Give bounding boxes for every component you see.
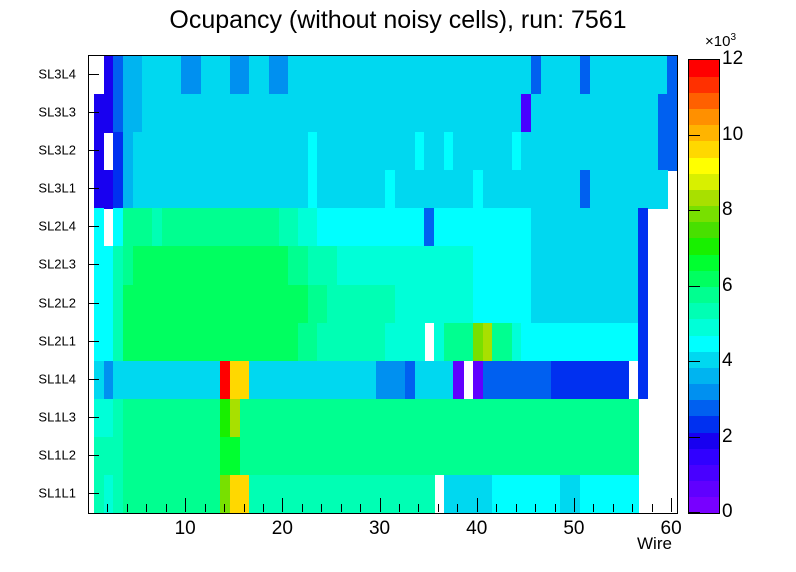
heatmap-cell — [288, 208, 298, 247]
heatmap-cell — [162, 246, 172, 285]
heatmap-cell — [220, 475, 230, 513]
heatmap-cell — [162, 399, 172, 438]
heatmap-cell — [599, 132, 609, 171]
heatmap-cell — [259, 475, 269, 513]
heatmap-cell — [376, 56, 386, 95]
heatmap-cell — [337, 323, 347, 362]
heatmap-cell — [590, 170, 600, 209]
heatmap-cell — [434, 361, 444, 400]
colorbar-tick — [688, 59, 700, 60]
heatmap-cell — [473, 246, 483, 285]
heatmap-cell — [269, 437, 279, 476]
heatmap-cell — [201, 437, 211, 476]
heatmap-cell — [240, 323, 250, 362]
heatmap-cell — [210, 437, 220, 476]
colorbar-tick — [688, 210, 700, 211]
heatmap-cell — [570, 285, 580, 324]
heatmap-cell — [405, 94, 415, 133]
heatmap-cell — [366, 361, 376, 400]
x-axis-minor-tick — [438, 504, 439, 512]
heatmap-cell — [502, 399, 512, 438]
heatmap-cell — [210, 399, 220, 438]
heatmap-cell — [327, 94, 337, 133]
heatmap-cell — [94, 323, 104, 362]
heatmap-cell — [240, 132, 250, 171]
heatmap-cell — [288, 361, 298, 400]
heatmap-cell — [366, 399, 376, 438]
heatmap-cell — [453, 475, 463, 513]
heatmap-cell — [181, 56, 191, 95]
heatmap-cell — [337, 285, 347, 324]
heatmap-cell — [551, 94, 561, 133]
heatmap-cell — [201, 475, 211, 513]
colorbar-segment — [689, 270, 719, 287]
heatmap-cell — [599, 437, 609, 476]
colorbar-tick — [688, 512, 700, 513]
heatmap-cell — [415, 56, 425, 95]
y-axis-tick-label: SL2L3 — [38, 257, 76, 272]
heatmap-cell — [385, 208, 395, 247]
heatmap-cell — [104, 94, 114, 133]
heatmap-cell — [133, 56, 143, 95]
heatmap-cell — [502, 285, 512, 324]
heatmap-cell — [434, 285, 444, 324]
heatmap-cell — [551, 475, 561, 513]
heatmap-cell — [279, 399, 289, 438]
heatmap-cell — [327, 399, 337, 438]
heatmap-cell — [152, 56, 162, 95]
y-axis-tick-label: SL1L4 — [38, 371, 76, 386]
x-axis-minor-tick — [166, 504, 167, 512]
heatmap-cell — [347, 94, 357, 133]
heatmap-cell — [220, 94, 230, 133]
y-axis-tick-label: SL2L2 — [38, 295, 76, 310]
heatmap-cell — [502, 323, 512, 362]
heatmap-cell — [133, 170, 143, 209]
heatmap-cell — [240, 437, 250, 476]
heatmap-cell — [181, 399, 191, 438]
heatmap-cell — [162, 361, 172, 400]
heatmap-cell — [259, 399, 269, 438]
heatmap-cell — [619, 475, 629, 513]
heatmap-cell — [434, 246, 444, 285]
heatmap-cell — [512, 56, 522, 95]
heatmap-cell — [385, 323, 395, 362]
heatmap-cell — [628, 208, 638, 247]
heatmap-cell — [580, 246, 590, 285]
heatmap-cell — [230, 208, 240, 247]
heatmap-cell — [113, 437, 123, 476]
heatmap-cell — [279, 56, 289, 95]
x-axis-minor-tick — [127, 504, 128, 512]
y-axis-tick — [88, 303, 99, 304]
heatmap-cell — [463, 437, 473, 476]
heatmap-cell — [337, 56, 347, 95]
heatmap-cell — [308, 475, 318, 513]
heatmap-cell — [376, 246, 386, 285]
heatmap-cell — [395, 361, 405, 400]
heatmap-cell — [424, 246, 434, 285]
heatmap-cell — [356, 475, 366, 513]
heatmap-cell — [609, 323, 619, 362]
heatmap-cell — [463, 246, 473, 285]
heatmap-cell — [259, 285, 269, 324]
heatmap-cell — [113, 475, 123, 513]
x-axis-minor-tick — [399, 504, 400, 512]
y-axis-tick — [88, 379, 99, 380]
heatmap-cell — [415, 323, 425, 362]
heatmap-cell — [240, 285, 250, 324]
heatmap-cell — [94, 361, 104, 400]
colorbar-segment — [689, 141, 719, 158]
heatmap-cell — [123, 361, 133, 400]
heatmap-cell — [191, 246, 201, 285]
heatmap-cell — [298, 132, 308, 171]
heatmap-cell — [113, 323, 123, 362]
heatmap-cell — [191, 361, 201, 400]
y-axis-tick-label: SL2L1 — [38, 333, 76, 348]
heatmap-cell — [453, 437, 463, 476]
x-axis-major-tick — [282, 498, 283, 512]
heatmap-cell — [327, 437, 337, 476]
heatmap-cell — [424, 132, 434, 171]
heatmap-cell — [492, 437, 502, 476]
heatmap-cell — [376, 285, 386, 324]
heatmap-cell — [259, 361, 269, 400]
colorbar-segment — [689, 497, 719, 514]
heatmap-cell — [415, 94, 425, 133]
heatmap-cell — [483, 323, 493, 362]
heatmap-cell — [337, 132, 347, 171]
heatmap-cell — [405, 285, 415, 324]
x-axis-title: Wire — [637, 534, 672, 554]
heatmap-cell — [162, 208, 172, 247]
heatmap-cell — [279, 285, 289, 324]
heatmap-cell — [531, 132, 541, 171]
heatmap-cell — [415, 285, 425, 324]
heatmap-cell — [317, 56, 327, 95]
heatmap-cell — [327, 132, 337, 171]
heatmap-cell — [366, 208, 376, 247]
heatmap-cell — [502, 475, 512, 513]
heatmap-cell — [521, 399, 531, 438]
heatmap-cell — [104, 285, 114, 324]
heatmap-cell — [512, 94, 522, 133]
heatmap-cell — [580, 132, 590, 171]
heatmap-cell — [531, 437, 541, 476]
heatmap-cell — [619, 323, 629, 362]
heatmap-cell — [444, 208, 454, 247]
heatmap-cell — [580, 94, 590, 133]
heatmap-cell — [521, 437, 531, 476]
heatmap-cell — [609, 94, 619, 133]
heatmap-cell — [492, 323, 502, 362]
heatmap-cell — [230, 94, 240, 133]
heatmap-cell — [279, 361, 289, 400]
heatmap-cell — [259, 437, 269, 476]
y-axis-tick-label: SL1L3 — [38, 409, 76, 424]
heatmap-cell — [590, 208, 600, 247]
heatmap-cell — [376, 132, 386, 171]
x-axis-minor-tick — [613, 504, 614, 512]
heatmap-cell — [308, 94, 318, 133]
heatmap-cell — [269, 285, 279, 324]
heatmap-cell — [531, 399, 541, 438]
heatmap-cell — [249, 246, 259, 285]
colorbar-tick — [688, 437, 700, 438]
heatmap-cell — [181, 475, 191, 513]
heatmap-cell — [308, 56, 318, 95]
heatmap-cell — [638, 56, 648, 95]
heatmap-cell — [531, 361, 541, 400]
heatmap-cell — [240, 399, 250, 438]
heatmap-cell — [327, 323, 337, 362]
colorbar-segment — [689, 60, 719, 77]
heatmap-cell — [104, 170, 114, 209]
heatmap-cell — [288, 323, 298, 362]
heatmap-cell — [249, 285, 259, 324]
heatmap-cell — [279, 475, 289, 513]
heatmap-cell — [279, 170, 289, 209]
heatmap-cell — [142, 399, 152, 438]
heatmap-cell — [551, 246, 561, 285]
heatmap-cell — [415, 208, 425, 247]
heatmap-cell — [123, 94, 133, 133]
heatmap-cell — [356, 56, 366, 95]
heatmap-cell — [424, 56, 434, 95]
heatmap-cell — [560, 475, 570, 513]
colorbar-segment — [689, 432, 719, 449]
heatmap-cell — [366, 170, 376, 209]
heatmap-cell — [609, 170, 619, 209]
x-axis-minor-tick — [263, 504, 264, 512]
colorbar-tick-label: 2 — [722, 426, 733, 448]
heatmap-cell — [113, 399, 123, 438]
heatmap-cell — [191, 399, 201, 438]
heatmap-cell — [133, 94, 143, 133]
heatmap-cell — [667, 56, 677, 95]
heatmap-cell — [220, 399, 230, 438]
heatmap-cell — [201, 285, 211, 324]
heatmap-cell — [356, 208, 366, 247]
heatmap-cell — [133, 208, 143, 247]
heatmap-cell — [599, 56, 609, 95]
heatmap-cell — [560, 437, 570, 476]
heatmap-cell — [463, 399, 473, 438]
y-axis-tick — [88, 150, 99, 151]
y-axis-tick-label: SL3L2 — [38, 143, 76, 158]
heatmap-cell — [259, 323, 269, 362]
heatmap-cell — [172, 170, 182, 209]
heatmap-cell — [551, 132, 561, 171]
heatmap-cell — [366, 132, 376, 171]
heatmap-cell — [444, 323, 454, 362]
heatmap-cell — [210, 246, 220, 285]
heatmap-cell — [269, 132, 279, 171]
heatmap-cell — [172, 246, 182, 285]
heatmap-cell — [230, 437, 240, 476]
heatmap-cell — [249, 475, 259, 513]
heatmap-cell — [570, 132, 580, 171]
heatmap-cell — [288, 475, 298, 513]
heatmap-cell — [347, 208, 357, 247]
heatmap-cell — [570, 399, 580, 438]
heatmap-cell — [628, 56, 638, 95]
heatmap-cell — [424, 399, 434, 438]
heatmap-cell — [104, 56, 114, 95]
heatmap-cell — [269, 94, 279, 133]
heatmap-cell — [560, 208, 570, 247]
heatmap-cell — [152, 208, 162, 247]
heatmap-cell — [279, 208, 289, 247]
heatmap-cell — [230, 475, 240, 513]
heatmap-cell — [172, 361, 182, 400]
y-axis-tick-label: SL2L4 — [38, 219, 76, 234]
heatmap-cell — [531, 475, 541, 513]
heatmap-cell — [434, 94, 444, 133]
heatmap-cell — [366, 475, 376, 513]
colorbar-tick-label: 12 — [722, 48, 743, 70]
heatmap-cell — [191, 437, 201, 476]
x-axis-minor-tick — [341, 504, 342, 512]
heatmap-cell — [337, 361, 347, 400]
heatmap-cell — [405, 246, 415, 285]
heatmap-cell — [570, 94, 580, 133]
heatmap-cell — [628, 475, 638, 513]
heatmap-cell — [317, 475, 327, 513]
heatmap-cell — [658, 132, 668, 171]
heatmap-cell — [473, 475, 483, 513]
heatmap-cell — [415, 246, 425, 285]
heatmap-cell — [405, 323, 415, 362]
colorbar-segment — [689, 189, 719, 206]
x-axis-major-tick — [185, 498, 186, 512]
heatmap-cell — [502, 132, 512, 171]
heatmap-cell — [434, 132, 444, 171]
heatmap-cell — [385, 399, 395, 438]
heatmap-cell — [444, 437, 454, 476]
y-axis-tick — [88, 417, 99, 418]
x-axis-minor-tick — [244, 504, 245, 512]
heatmap-cell — [172, 208, 182, 247]
heatmap-cell — [288, 285, 298, 324]
heatmap-cell — [619, 437, 629, 476]
heatmap-cell — [172, 323, 182, 362]
heatmap-cell — [521, 132, 531, 171]
heatmap-cell — [580, 437, 590, 476]
heatmap-cell — [308, 246, 318, 285]
heatmap-cell — [337, 94, 347, 133]
heatmap-cell — [249, 94, 259, 133]
heatmap-cell — [483, 437, 493, 476]
heatmap-cell — [104, 437, 114, 476]
heatmap-cell — [327, 475, 337, 513]
heatmap-cell — [609, 475, 619, 513]
heatmap-cell — [648, 132, 658, 171]
heatmap-cell — [376, 170, 386, 209]
colorbar-segment — [689, 157, 719, 174]
heatmap-cell — [658, 170, 668, 209]
heatmap-cell — [220, 361, 230, 400]
y-axis-tick-label: SL3L1 — [38, 181, 76, 196]
heatmap-cell — [308, 323, 318, 362]
y-axis-tick — [88, 74, 99, 75]
heatmap-cell — [570, 437, 580, 476]
heatmap-cell — [317, 132, 327, 171]
heatmap-cell — [415, 361, 425, 400]
heatmap-cell — [570, 475, 580, 513]
heatmap-cell — [385, 132, 395, 171]
heatmap-cell — [123, 246, 133, 285]
heatmap-cell — [434, 170, 444, 209]
heatmap-cell — [181, 285, 191, 324]
heatmap-cell — [405, 437, 415, 476]
heatmap-cell — [570, 246, 580, 285]
heatmap-cell — [560, 94, 570, 133]
heatmap-cell — [492, 285, 502, 324]
heatmap-cell — [347, 323, 357, 362]
heatmap-cell — [531, 323, 541, 362]
heatmap-cell — [259, 94, 269, 133]
heatmap-cell — [609, 399, 619, 438]
heatmap-cell — [521, 208, 531, 247]
heatmap-cell — [580, 208, 590, 247]
heatmap-cell — [395, 437, 405, 476]
heatmap-cell — [230, 246, 240, 285]
x-axis-minor-tick — [593, 504, 594, 512]
heatmap-cell — [638, 94, 648, 133]
heatmap-cell — [327, 170, 337, 209]
heatmap-cell — [453, 399, 463, 438]
heatmap-cell — [356, 94, 366, 133]
heatmap-cell — [512, 208, 522, 247]
heatmap-cell — [94, 208, 104, 247]
heatmap-cell — [415, 170, 425, 209]
colorbar-tick-label: 0 — [722, 501, 733, 523]
heatmap-cell — [512, 246, 522, 285]
heatmap-cell — [181, 132, 191, 171]
colorbar-segment — [689, 335, 719, 352]
heatmap-cell — [512, 361, 522, 400]
x-axis-minor-tick — [516, 504, 517, 512]
heatmap-cell — [599, 208, 609, 247]
heatmap-cell — [191, 475, 201, 513]
heatmap-cell — [570, 361, 580, 400]
heatmap-plot[interactable] — [88, 55, 678, 514]
heatmap-cell — [434, 437, 444, 476]
colorbar-tick-label: 8 — [722, 199, 733, 221]
heatmap-cell — [298, 94, 308, 133]
heatmap-cell — [638, 132, 648, 171]
x-axis-minor-tick — [224, 504, 225, 512]
heatmap-cell — [317, 170, 327, 209]
heatmap-cell — [356, 170, 366, 209]
heatmap-cell — [113, 94, 123, 133]
heatmap-cell — [444, 132, 454, 171]
colorbar-segment — [689, 384, 719, 401]
heatmap-cell — [580, 323, 590, 362]
heatmap-cell — [521, 170, 531, 209]
heatmap-cell — [590, 94, 600, 133]
colorbar-tick-label: 4 — [722, 350, 733, 372]
heatmap-cell — [648, 170, 658, 209]
heatmap-cell — [648, 56, 658, 95]
heatmap-cell — [483, 170, 493, 209]
heatmap-cell — [308, 170, 318, 209]
heatmap-cell — [298, 56, 308, 95]
colorbar-segment — [689, 92, 719, 109]
heatmap-cell — [609, 285, 619, 324]
